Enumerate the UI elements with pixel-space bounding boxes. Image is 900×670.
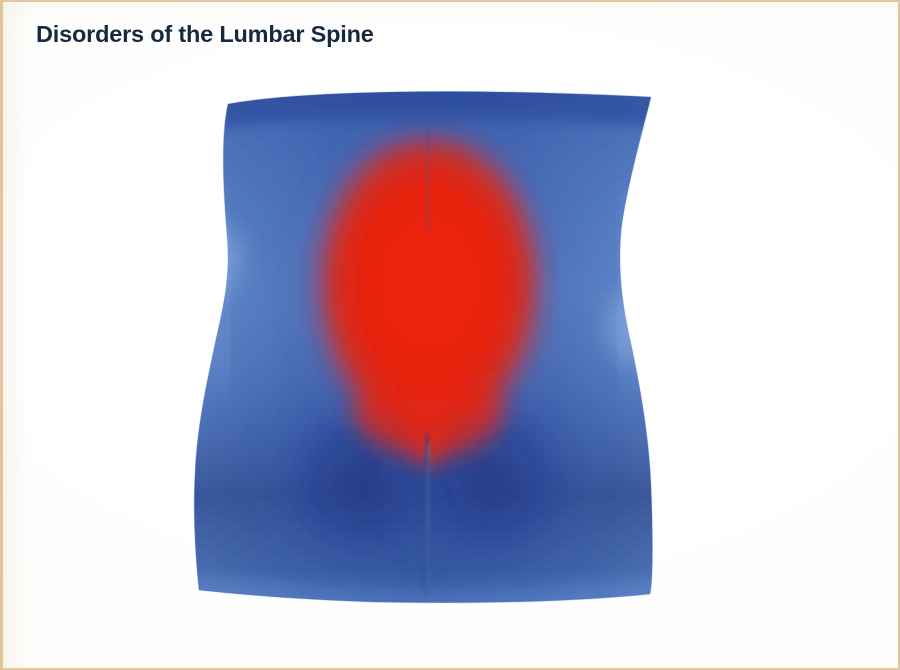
- highlight-flank-left: [212, 202, 225, 382]
- landmark-spinal-midline: [427, 106, 428, 232]
- thermogram-image: [173, 82, 673, 612]
- landmark-waist-pinch-left: [191, 224, 243, 292]
- lumbar-spine-thermogram-figure: [173, 82, 673, 612]
- page-root: Disorders of the Lumbar Spine: [0, 0, 900, 670]
- thermogram-body: [173, 82, 673, 612]
- landmark-waist-pinch-right: [605, 294, 653, 362]
- page-title: Disorders of the Lumbar Spine: [36, 21, 374, 48]
